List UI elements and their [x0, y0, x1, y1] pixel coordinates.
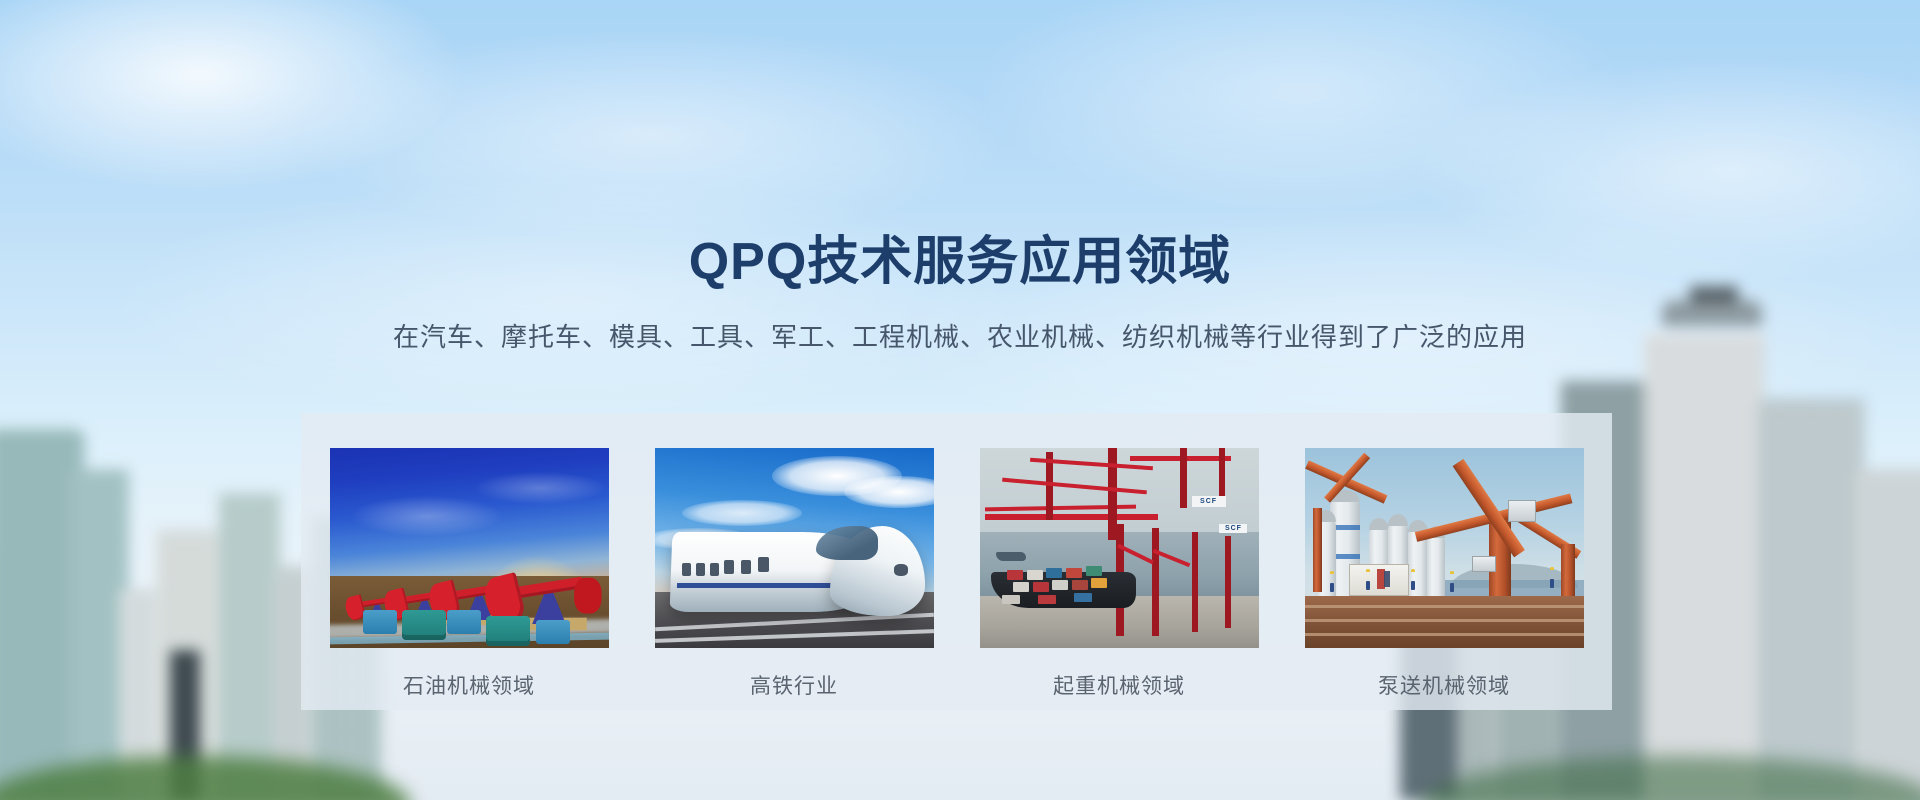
application-fields-panel: 石油机械领域: [301, 413, 1612, 710]
card-lifting-machinery[interactable]: SCF SCF: [980, 448, 1259, 700]
tree-line-left: [0, 756, 410, 800]
building: [1756, 400, 1864, 800]
cloud-wisp: [120, 180, 1020, 420]
building: [0, 428, 84, 800]
building: [1644, 332, 1764, 800]
port-gantry-crane-photo[interactable]: SCF SCF: [980, 448, 1259, 648]
building: [218, 494, 280, 800]
card-high-speed-rail[interactable]: 高铁行业: [655, 448, 934, 700]
building: [1856, 470, 1920, 800]
concrete-pump-photo[interactable]: [1305, 448, 1584, 648]
cloud-wisp: [300, 30, 1000, 240]
oil-pumpjack-photo[interactable]: [330, 448, 609, 648]
tree-line-right: [1420, 756, 1920, 800]
page-title: QPQ技术服务应用领域: [0, 236, 1920, 288]
card-pumping-machinery[interactable]: 泵送机械领域: [1305, 448, 1584, 700]
building-crown: [1656, 300, 1768, 800]
cloud-wisp: [0, 0, 460, 190]
cloud-wisp: [980, 0, 1620, 210]
card-label: 高铁行业: [750, 670, 838, 700]
crane-brand-label: SCF: [1219, 524, 1247, 533]
high-speed-train-photo[interactable]: [655, 448, 934, 648]
card-label: 石油机械领域: [403, 670, 535, 700]
card-label: 起重机械领域: [1053, 670, 1185, 700]
page-subtitle: 在汽车、摩托车、模具、工具、军工、工程机械、农业机械、纺织机械等行业得到了广泛的…: [0, 324, 1920, 350]
card-label: 泵送机械领域: [1378, 670, 1510, 700]
crane-brand-label: SCF: [1192, 496, 1226, 507]
building: [74, 470, 128, 800]
card-oil-machinery[interactable]: 石油机械领域: [330, 448, 609, 700]
hero-banner: QPQ技术服务应用领域 在汽车、摩托车、模具、工具、军工、工程机械、农业机械、纺…: [0, 0, 1920, 800]
